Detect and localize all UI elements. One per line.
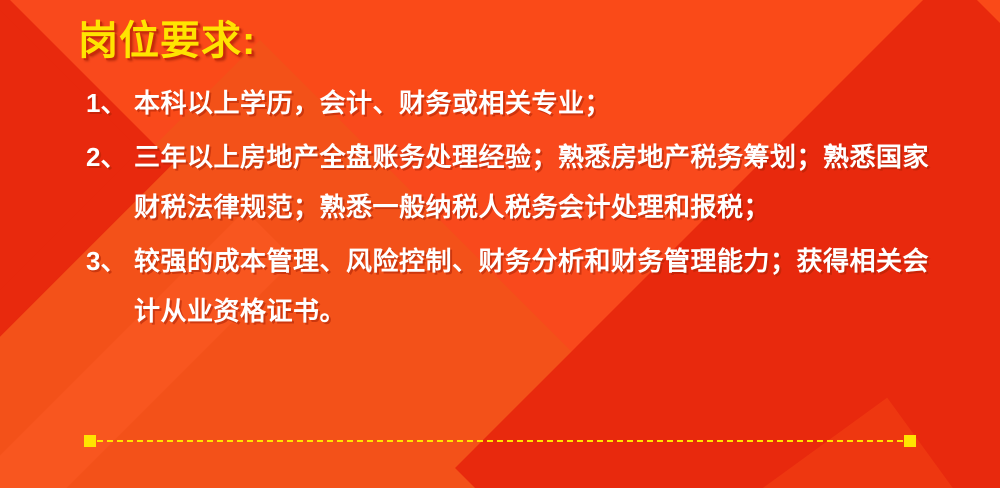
requirement-text: 三年以上房地产全盘账务处理经验；熟悉房地产税务筹划；熟悉国家财税法律规范；熟悉一… [134,132,952,232]
requirement-item: 1、 本科以上学历，会计、财务或相关专业； [86,78,952,128]
section-title: 岗位要求: [78,8,256,66]
bottom-divider [84,434,916,448]
requirement-item: 3、 较强的成本管理、风险控制、财务分析和财务管理能力；获得相关会计从业资格证书… [86,236,952,336]
divider-right-square-icon [904,435,916,447]
poster-content: 岗位要求: 1、 本科以上学历，会计、财务或相关专业； 2、 三年以上房地产全盘… [0,0,1000,488]
poster-root: 岗位要求: 1、 本科以上学历，会计、财务或相关专业； 2、 三年以上房地产全盘… [0,0,1000,488]
requirement-number: 3、 [86,236,134,286]
requirement-text: 本科以上学历，会计、财务或相关专业； [134,78,952,128]
divider-left-square-icon [84,435,96,447]
divider-dashed-line [97,440,903,442]
requirement-number: 2、 [86,132,134,182]
requirement-text: 较强的成本管理、风险控制、财务分析和财务管理能力；获得相关会计从业资格证书。 [134,236,952,336]
requirement-number: 1、 [86,78,134,128]
requirement-item: 2、 三年以上房地产全盘账务处理经验；熟悉房地产税务筹划；熟悉国家财税法律规范；… [86,132,952,232]
requirements-list: 1、 本科以上学历，会计、财务或相关专业； 2、 三年以上房地产全盘账务处理经验… [86,78,952,340]
